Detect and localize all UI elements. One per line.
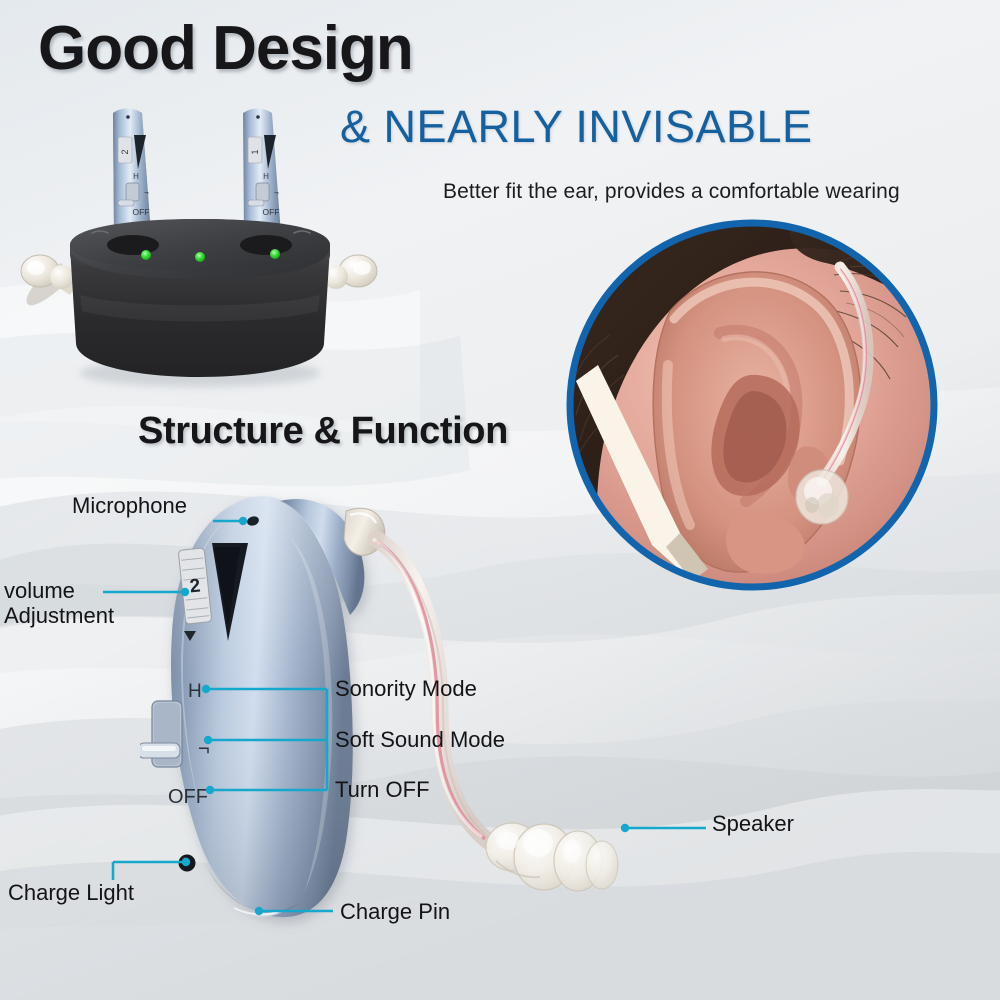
hearing-aid-device-illustration: 2 H ¬ OFF (140, 465, 700, 945)
dock-led-right (270, 249, 280, 259)
section-title-structure-function: Structure & Function (138, 410, 508, 453)
callout-label-speaker: Speaker (712, 812, 794, 837)
volume-wheel-value: 2 (189, 576, 202, 598)
callout-label-volume-line2: Adjustment (4, 603, 114, 628)
switch-label-mid: ¬ (198, 738, 210, 760)
svg-text:OFF: OFF (133, 207, 150, 217)
svg-text:H: H (133, 172, 139, 181)
callout-label-charge-pin: Charge Pin (340, 900, 450, 925)
infographic-canvas: Good Design & NEARLY INVISABLE Better fi… (0, 0, 1000, 1000)
callout-label-sonority-mode: Sonority Mode (335, 677, 477, 702)
dock-led-left (141, 250, 151, 260)
charging-dock-body (70, 219, 330, 377)
svg-text:¬: ¬ (144, 188, 149, 197)
dock-dome-left (21, 255, 78, 305)
svg-text:¬: ¬ (274, 188, 279, 197)
switch-label-off: OFF (168, 786, 208, 808)
page-subtitle: & NEARLY INVISABLE (340, 104, 813, 149)
svg-text:1: 1 (250, 149, 260, 154)
callout-label-microphone: Microphone (72, 494, 187, 519)
callout-label-turn-off: Turn OFF (335, 778, 430, 803)
svg-text:OFF: OFF (263, 207, 280, 217)
charge-light-led (179, 855, 196, 872)
callout-label-soft-sound-mode: Soft Sound Mode (335, 728, 505, 753)
switch-label-h: H (188, 681, 202, 702)
svg-text:H: H (263, 172, 269, 181)
dock-led-center (195, 252, 205, 262)
speaker-ear-dome (486, 823, 618, 891)
callout-label-volume-adjustment: volume Adjustment (4, 578, 154, 628)
svg-text:2: 2 (120, 149, 130, 154)
page-title: Good Design (38, 18, 413, 80)
callout-label-volume-line1: volume (4, 578, 75, 603)
dock-dome-right (324, 255, 377, 289)
callout-label-charge-light: Charge Light (8, 881, 134, 906)
tagline: Better fit the ear, provides a comfortab… (443, 180, 900, 204)
charging-dock-illustration: 2 H ¬ OFF 1 H ¬ OFF (0, 95, 400, 395)
